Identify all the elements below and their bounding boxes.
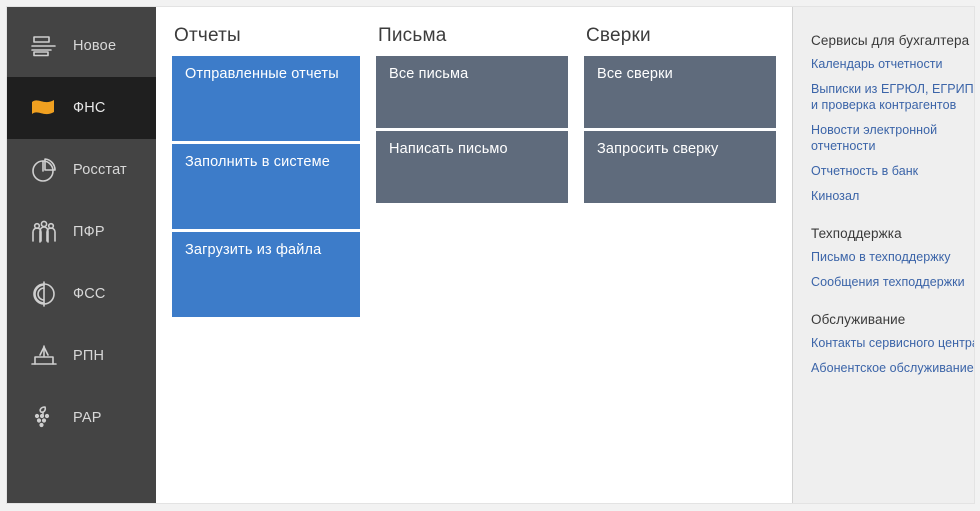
rail-group-2: ТехподдержкаПисьмо в техподдержкуСообщен… [811, 226, 975, 290]
sidebar-item-label: ФСС [73, 286, 106, 302]
rail-group-1: Сервисы для бухгалтераКалендарь отчетнос… [811, 33, 975, 204]
people-group-icon [27, 215, 61, 249]
tile-label: Загрузить из файла [185, 242, 321, 258]
rail-link-1-1[interactable]: Календарь отчетности [811, 56, 975, 72]
sidebar-item-label: Новое [73, 38, 116, 54]
column-title: Отчеты [174, 25, 360, 47]
grapes-icon [27, 401, 61, 435]
sidebar-item-1[interactable]: Новое [7, 15, 156, 77]
main-content: ОтчетыОтправленные отчетыЗаполнить в сис… [156, 7, 792, 503]
right-services-rail: Сервисы для бухгалтераКалендарь отчетнос… [793, 7, 975, 503]
rail-link-1-5[interactable]: Кинозал [811, 188, 975, 204]
sidebar-item-2[interactable]: ФНС [7, 77, 156, 139]
sidebar-item-label: Росстат [73, 162, 127, 178]
sidebar-item-label: ПФР [73, 224, 105, 240]
sidebar-item-7[interactable]: РАР [7, 387, 156, 449]
sidebar-item-label: РПН [73, 348, 104, 364]
tile-label: Все сверки [597, 66, 673, 82]
tile-1-2[interactable]: Заполнить в системе [172, 144, 360, 229]
tile-column-3: СверкиВсе сверкиЗапросить сверку [584, 25, 776, 203]
tile-1-3[interactable]: Загрузить из файла [172, 232, 360, 317]
tile-column-1: ОтчетыОтправленные отчетыЗаполнить в сис… [172, 25, 360, 317]
tile-3-2[interactable]: Запросить сверку [584, 131, 776, 203]
left-sidebar: НовоеФНСРосстатПФРФССРПНРАР [7, 7, 156, 503]
tile-stack: Отправленные отчетыЗаполнить в системеЗа… [172, 56, 360, 317]
rail-group-title: Техподдержка [811, 226, 975, 241]
app-root: НовоеФНСРосстатПФРФССРПНРАР ОтчетыОтправ… [0, 0, 980, 511]
rail-link-1-3[interactable]: Новости электронной отчетности [811, 122, 975, 154]
rail-group-title: Обслуживание [811, 312, 975, 327]
rail-link-1-4[interactable]: Отчетность в банк [811, 163, 975, 179]
tile-label: Написать письмо [389, 141, 508, 157]
tile-label: Отправленные отчеты [185, 66, 339, 82]
rail-group-title: Сервисы для бухгалтера [811, 33, 975, 48]
app-window: НовоеФНСРосстатПФРФССРПНРАР ОтчетыОтправ… [6, 6, 975, 504]
tile-2-2[interactable]: Написать письмо [376, 131, 568, 203]
tile-1-1[interactable]: Отправленные отчеты [172, 56, 360, 141]
tile-label: Все письма [389, 66, 468, 82]
column-title: Сверки [586, 25, 776, 47]
orange-flag-icon [27, 91, 61, 125]
sidebar-item-6[interactable]: РПН [7, 325, 156, 387]
tile-stack: Все сверкиЗапросить сверку [584, 56, 776, 203]
tile-3-1[interactable]: Все сверки [584, 56, 776, 128]
rail-link-3-2[interactable]: Абонентское обслуживание [811, 360, 975, 376]
tile-column-2: ПисьмаВсе письмаНаписать письмо [376, 25, 568, 203]
tile-columns: ОтчетыОтправленные отчетыЗаполнить в сис… [172, 25, 792, 317]
list-lines-icon [27, 29, 61, 63]
rail-link-2-1[interactable]: Письмо в техподдержку [811, 249, 975, 265]
tile-label: Заполнить в системе [185, 154, 330, 170]
tile-stack: Все письмаНаписать письмо [376, 56, 568, 203]
sidebar-item-5[interactable]: ФСС [7, 263, 156, 325]
rail-link-3-1[interactable]: Контакты сервисного центра [811, 335, 975, 351]
column-title: Письма [378, 25, 568, 47]
rail-link-2-2[interactable]: Сообщения техподдержки [811, 274, 975, 290]
rail-link-1-2[interactable]: Выписки из ЕГРЮЛ, ЕГРИП и проверка контр… [811, 81, 975, 113]
tile-2-1[interactable]: Все письма [376, 56, 568, 128]
factory-icon [27, 339, 61, 373]
rail-group-3: ОбслуживаниеКонтакты сервисного центраАб… [811, 312, 975, 376]
circle-shield-icon [27, 277, 61, 311]
sidebar-item-3[interactable]: Росстат [7, 139, 156, 201]
pie-chart-icon [27, 153, 61, 187]
sidebar-item-label: РАР [73, 410, 102, 426]
sidebar-item-label: ФНС [73, 100, 106, 116]
sidebar-item-4[interactable]: ПФР [7, 201, 156, 263]
tile-label: Запросить сверку [597, 141, 718, 157]
